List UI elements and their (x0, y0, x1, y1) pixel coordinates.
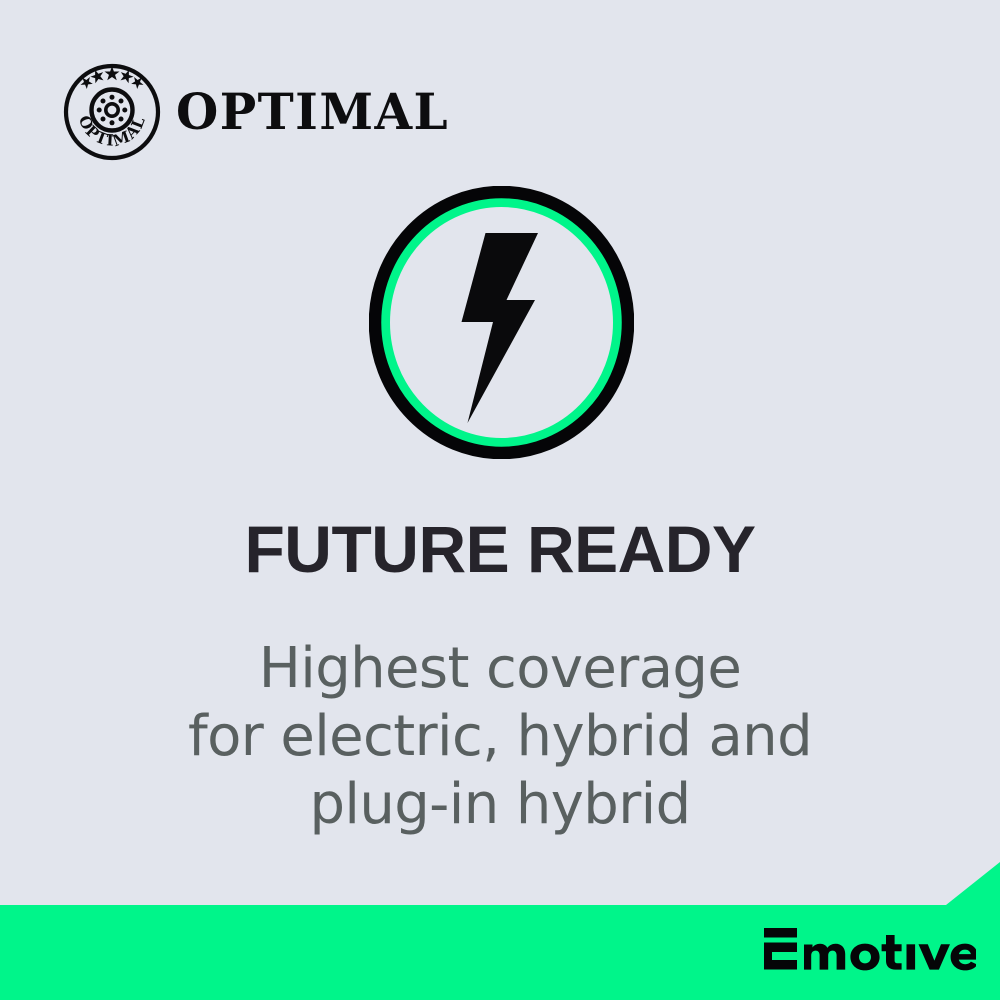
subtitle-line-2: for electric, hybrid and (0, 703, 1000, 771)
page-title: FUTURE READY (0, 516, 1000, 582)
subtitle-line-1: Highest coverage (0, 635, 1000, 703)
footer-band (0, 858, 1000, 1000)
poster-canvas: OPTIMAL OPTIMAL (0, 0, 1000, 1000)
brand-wordmark: OPTIMAL (176, 87, 449, 137)
subtitle: Highest coverage for electric, hybrid an… (0, 635, 1000, 839)
brand-logo-lockup: OPTIMAL OPTIMAL (62, 60, 458, 164)
subtitle-line-3: plug-in hybrid (0, 771, 1000, 839)
emotive-logo (762, 926, 976, 978)
lightning-bolt-badge-icon (369, 186, 634, 459)
optimal-emblem-icon: OPTIMAL (62, 62, 162, 162)
